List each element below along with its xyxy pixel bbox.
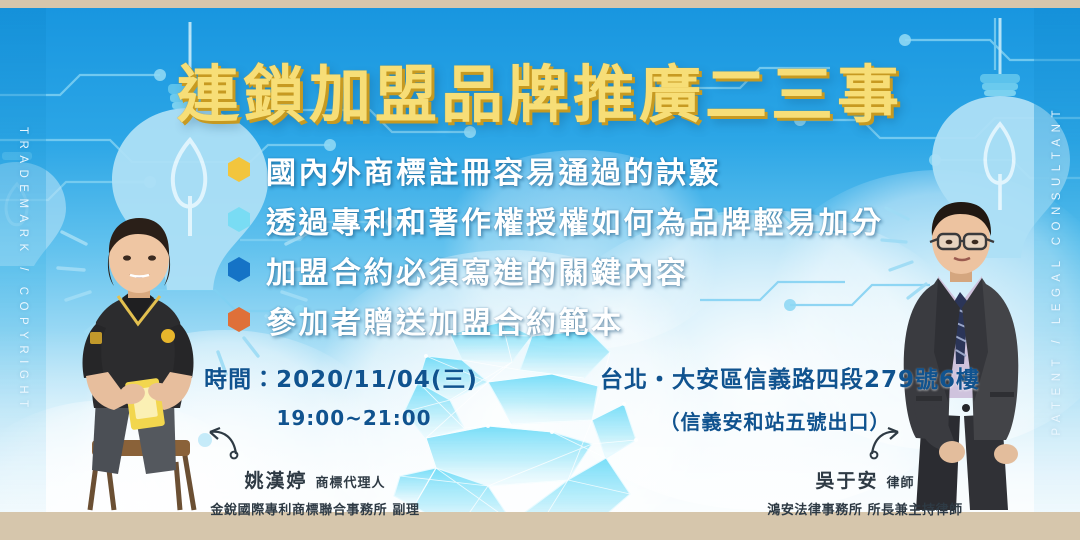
hexagon-bullet-icon: [228, 157, 250, 182]
rail-right-text: PATENT / LEGAL CONSULTANT: [1051, 104, 1063, 436]
list-item: 加盟合約必須寫進的關鍵內容: [228, 246, 884, 293]
hexagon-bullet-icon: [228, 207, 250, 232]
list-item-label: 國內外商標註冊容易通過的訣竅: [266, 148, 721, 192]
event-time-date: 時間：2020/11/04(三): [176, 360, 506, 394]
list-item: 透過專利和著作權授權如何為品牌輕易加分: [228, 196, 884, 243]
speaker-right-name: 吳于安律師: [700, 466, 1030, 493]
event-banner: TRADEMARK / COPYRIGHT PATENT / LEGAL CON…: [0, 0, 1080, 540]
speaker-left-name: 姚漢婷商標代理人: [150, 466, 480, 493]
curved-arrow-left-icon: [198, 424, 242, 464]
list-item-label: 參加者贈送加盟合約範本: [266, 298, 624, 342]
speaker-right-role: 律師: [887, 476, 915, 491]
list-item-label: 透過專利和著作權授權如何為品牌輕易加分: [266, 198, 884, 242]
bullet-list: 國內外商標註冊容易通過的訣竅 透過專利和著作權授權如何為品牌輕易加分 加盟合約必…: [228, 146, 884, 346]
hexagon-bullet-icon: [228, 257, 250, 282]
speaker-left-role: 商標代理人: [316, 476, 386, 491]
list-item-label: 加盟合約必須寫進的關鍵內容: [266, 248, 689, 292]
top-bar: [0, 0, 1080, 8]
list-item: 參加者贈送加盟合約範本: [228, 296, 884, 343]
speaker-left-org: 金銳國際專利商標聯合事務所 副理: [150, 499, 480, 518]
speaker-left: 姚漢婷商標代理人 金銳國際專利商標聯合事務所 副理: [150, 466, 480, 518]
speaker-right-name-text: 吳于安: [815, 470, 878, 492]
page-title: 連鎖加盟品牌推廣二三事: [0, 44, 1080, 134]
event-time-hours: 19:00~21:00: [202, 406, 506, 430]
event-time: 時間：2020/11/04(三) 19:00~21:00: [176, 360, 506, 430]
speaker-right-org: 鴻安法律事務所 所長兼主持律師: [700, 499, 1030, 518]
event-place-address: 台北・大安區信義路四段279號6樓: [600, 360, 950, 394]
speaker-left-name-text: 姚漢婷: [244, 470, 307, 492]
curved-arrow-right-icon: [866, 424, 910, 464]
speaker-right: 吳于安律師 鴻安法律事務所 所長兼主持律師: [700, 466, 1030, 518]
list-item: 國內外商標註冊容易通過的訣竅: [228, 146, 884, 193]
hexagon-bullet-icon: [228, 307, 250, 332]
rail-left-text: TRADEMARK / COPYRIGHT: [17, 127, 29, 414]
